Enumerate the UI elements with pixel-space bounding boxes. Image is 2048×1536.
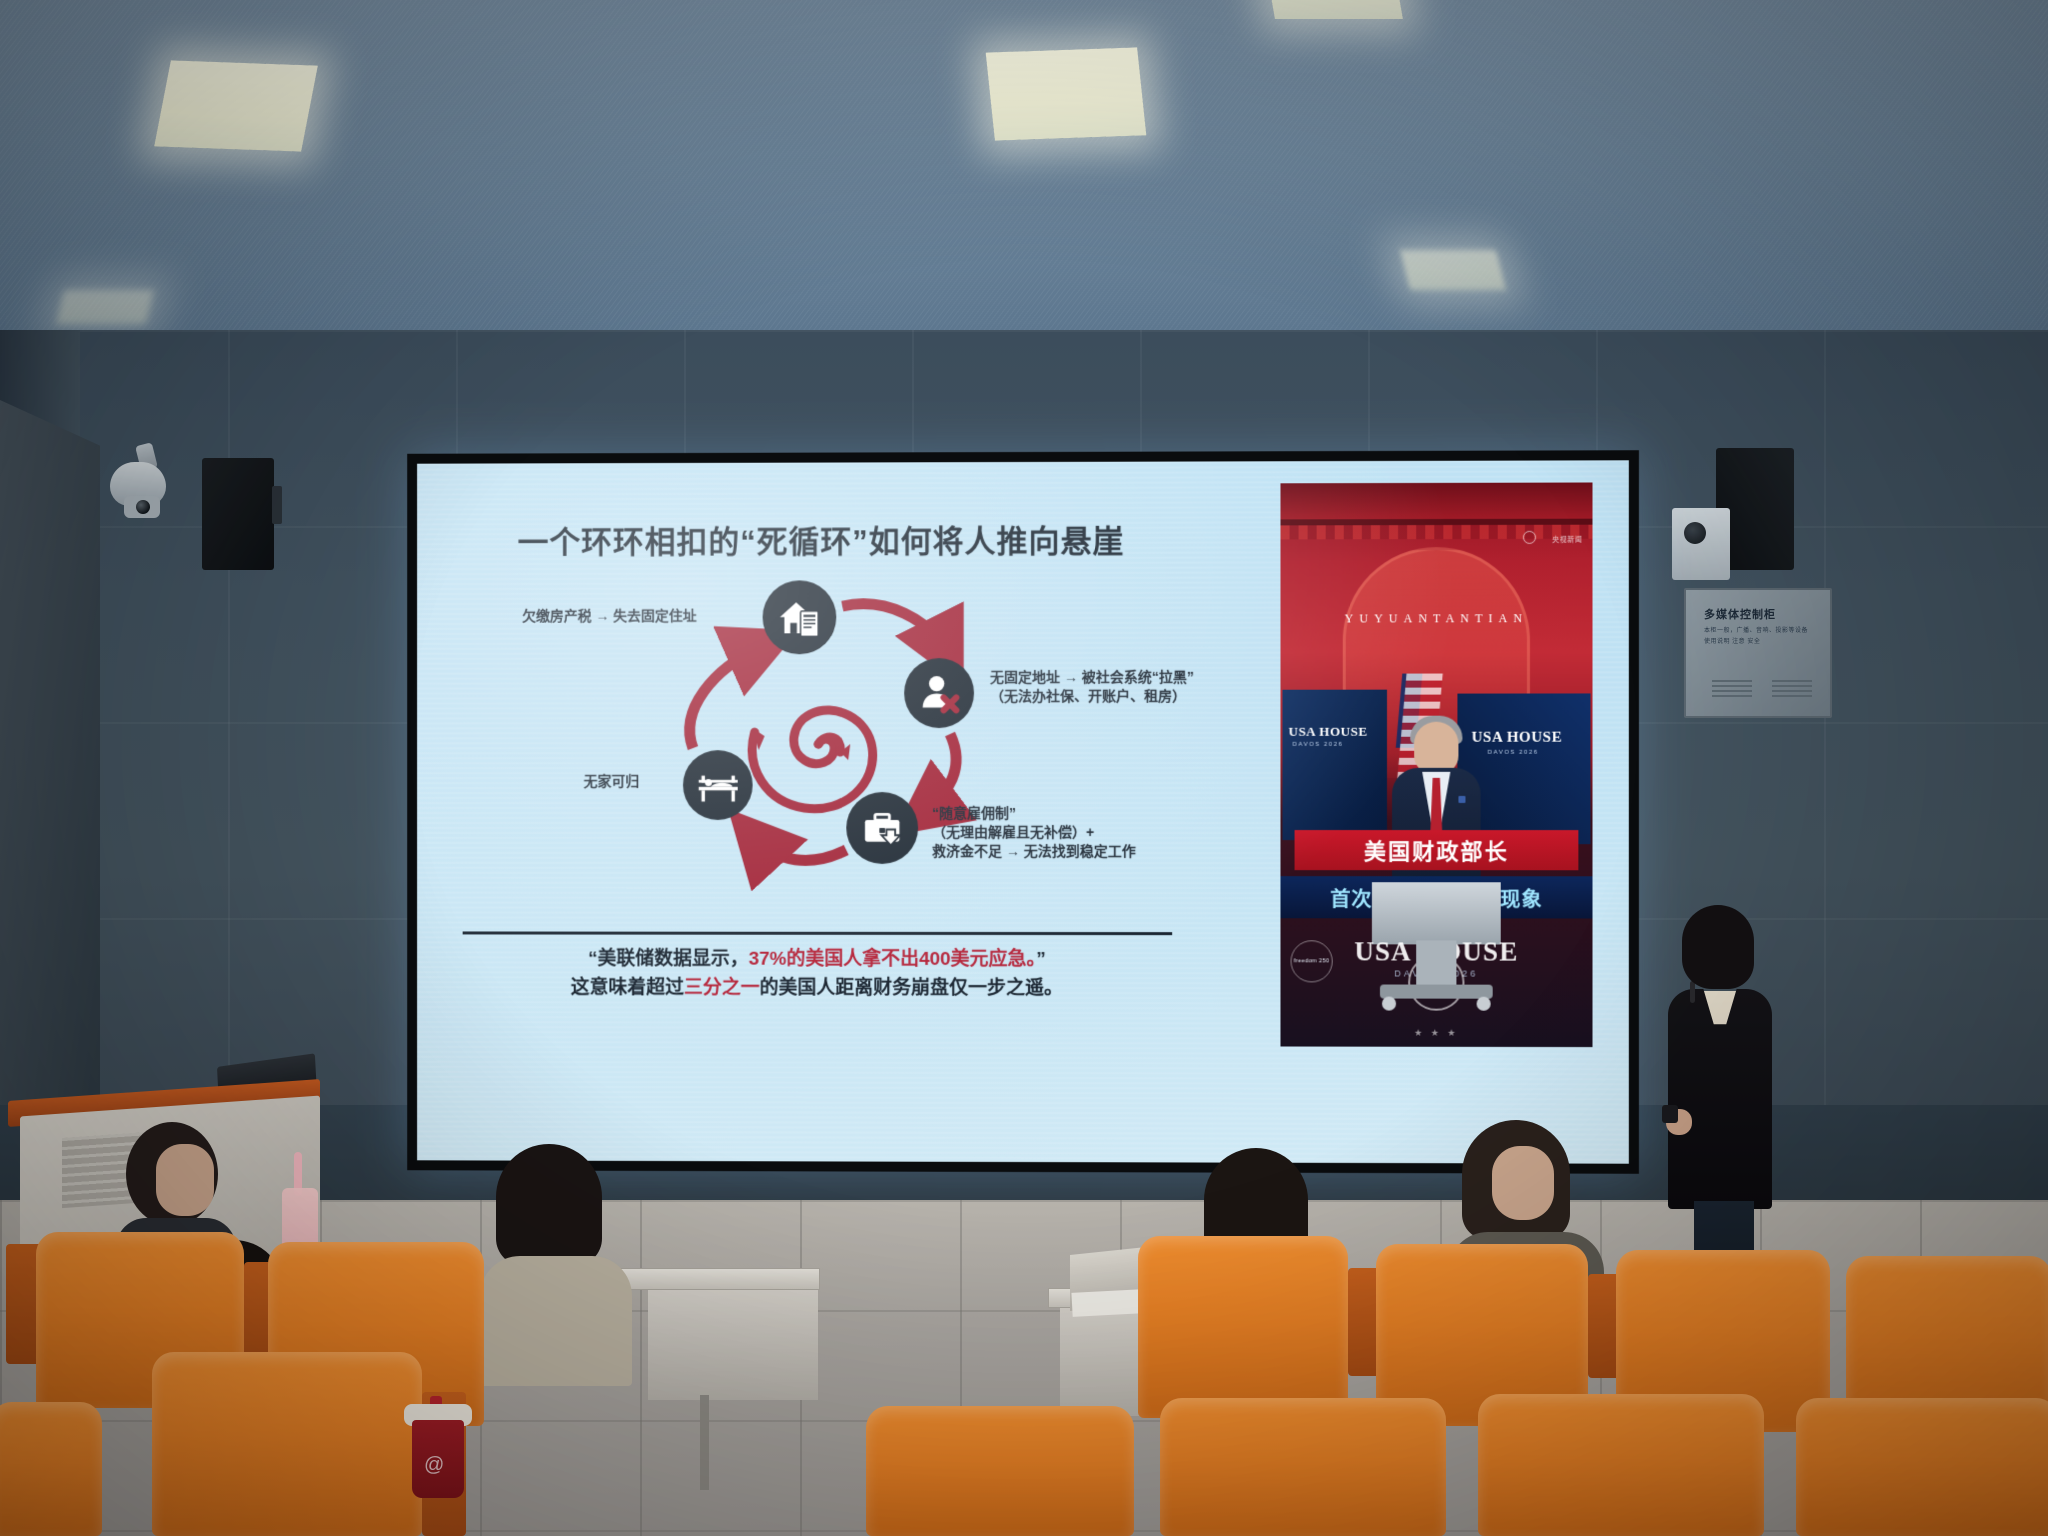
video-ceiling-beam (1280, 482, 1592, 519)
audience-face (1492, 1146, 1554, 1220)
ceiling-light-panel (986, 47, 1147, 140)
wall-sensor-panel (1672, 508, 1730, 580)
ceiling-light-panel (1265, 0, 1403, 19)
cabinet-vent (1712, 680, 1752, 700)
seat[interactable] (1160, 1398, 1446, 1536)
seat[interactable] (1138, 1236, 1348, 1418)
backdrop-left-title: USA HOUSE (1289, 724, 1368, 740)
presenter-hair (1682, 905, 1754, 989)
cup-logo-icon: @ (424, 1454, 444, 1477)
podium-wheel (1477, 997, 1491, 1011)
audience-face (156, 1144, 214, 1216)
audience-member (480, 1144, 630, 1374)
backdrop-right-sub: DAVOS 2026 (1488, 750, 1539, 756)
quote2-prefix: 这意味着超过 (571, 977, 684, 998)
seat[interactable] (1478, 1394, 1764, 1536)
label-no-address: 无固定地址 → 被社会系统“拉黑” （无法办社保、开账户、租房） (990, 668, 1194, 706)
quote-prefix: “美联储数据显示， (588, 949, 749, 970)
audience-body (480, 1256, 632, 1386)
cabinet-vent (1772, 680, 1812, 700)
program-pinyin-title: YUYUANTANTIAN (1280, 611, 1592, 627)
multimedia-control-cabinet[interactable]: 多媒体控制柜 本柜一般，广播、音响、投影等设备 使用说明 注意 安全 (1684, 588, 1832, 718)
podium-neck (1416, 940, 1456, 990)
video-scallop-trim (1280, 525, 1592, 540)
podium-front (1372, 882, 1501, 944)
audience-hair (496, 1144, 602, 1266)
house-tax-bill-icon (763, 580, 837, 654)
podium-wheel (1382, 997, 1396, 1011)
label-job-line1: “随意雇佣制” (932, 804, 1136, 823)
quote-suffix: ” (1036, 949, 1046, 970)
cabinet-subtitle-2: 使用说明 注意 安全 (1704, 636, 1830, 645)
backdrop-left-sub: DAVOS 2026 (1293, 742, 1344, 748)
homeless-bench-icon (683, 750, 753, 820)
seat[interactable] (0, 1402, 102, 1536)
slide-divider (463, 931, 1173, 935)
camera-lens-icon (124, 496, 160, 518)
person-blocked-icon (904, 658, 974, 728)
label-at-will-employment: “随意雇佣制” （无理由解雇且无补偿）+ 救济金不足 → 无法找到稳定工作 (932, 804, 1136, 861)
seat[interactable] (1796, 1398, 2048, 1536)
side-wall-left (0, 400, 100, 1160)
ceiling-light-panel (154, 60, 318, 151)
presenter (1660, 905, 1780, 1285)
seat[interactable] (866, 1406, 1134, 1536)
desk-leg (700, 1395, 709, 1490)
backdrop-panel-left: USA HOUSE DAVOS 2026 freedom 250 (1282, 690, 1387, 840)
cctv-watermark-text: 央视新闻 (1552, 535, 1582, 545)
quote-highlight-stat: 37%的美国人拿不出400美元应急。 (749, 949, 1037, 970)
label-job-line2: （无理由解雇且无补偿）+ (932, 823, 1136, 842)
label-property-tax: 欠缴房产税 → 失去固定住址 (522, 607, 697, 626)
presentation-slide: 一个环环相扣的“死循环”如何将人推向悬崖 (417, 460, 1629, 1163)
podium-base (1380, 984, 1493, 998)
projection-screen[interactable]: 一个环环相扣的“死循环”如何将人推向悬崖 (407, 450, 1639, 1174)
slide-quote: “美联储数据显示，37%的美国人拿不出400美元应急。” 这意味着超过三分之一的… (463, 945, 1173, 1003)
label-no-address-line2: （无法办社保、开账户、租房） (990, 687, 1194, 706)
vicious-cycle-diagram: 欠缴房产税 → 失去固定住址 无固定地址 → 被社会系统“拉黑” （无法办社保、… (457, 572, 1195, 902)
cctv-watermark-icon (1523, 531, 1536, 544)
lower-third-red-banner: 美国财政部长 (1295, 830, 1579, 870)
news-video-panel[interactable]: 央视新闻 YUYUANTANTIAN USA HOUSE DAVOS 2026 … (1280, 482, 1592, 1047)
desk-panel (648, 1290, 818, 1400)
quote2-suffix: 的美国人距离财务崩盘仅一步之遥。 (760, 977, 1063, 998)
cabinet-subtitle: 本柜一般，广播、音响、投影等设备 (1704, 625, 1830, 634)
podium-stars-icon: ★ ★ ★ (1280, 1027, 1592, 1039)
ceiling-light-glow (56, 290, 154, 324)
quote-line-2: 这意味着超过三分之一的美国人距离财务崩盘仅一步之遥。 (463, 974, 1173, 1003)
quote-highlight-fraction: 三分之一 (684, 977, 760, 998)
label-homeless: 无家可归 (584, 772, 640, 791)
quote-line-1: “美联储数据显示，37%的美国人拿不出400美元应急。” (463, 945, 1173, 974)
speaker-lapel-pin (1458, 796, 1465, 803)
lecture-hall-scene: 多媒体控制柜 本柜一般，广播、音响、投影等设备 使用说明 注意 安全 一个环环相… (0, 0, 2048, 1536)
speaker-head (1414, 722, 1458, 774)
ceiling-light-glow (1400, 250, 1506, 290)
label-job-line3: 救济金不足 → 无法找到稳定工作 (932, 842, 1136, 861)
presenter-clicker[interactable] (1662, 1105, 1678, 1123)
slide-title: 一个环环相扣的“死循环”如何将人推向悬崖 (473, 516, 1171, 562)
presenter-lapel-mic-icon (1690, 981, 1695, 1003)
wall-speaker-left (202, 458, 274, 570)
desk (610, 1268, 820, 1290)
briefcase-down-arrow-icon (846, 792, 918, 864)
backdrop-right-title: USA HOUSE (1472, 730, 1563, 747)
label-no-address-line1: 无固定地址 → 被社会系统“拉黑” (990, 668, 1194, 687)
seat[interactable] (152, 1352, 422, 1536)
cabinet-title: 多媒体控制柜 (1704, 606, 1830, 622)
